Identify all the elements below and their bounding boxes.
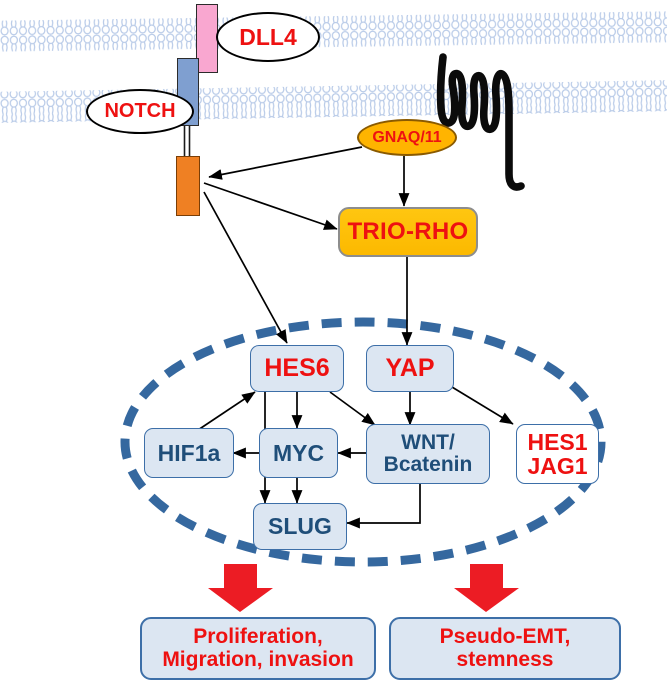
upper-membrane (0, 11, 667, 51)
left-red-arrow (208, 564, 273, 612)
arrow-wnt-to-slug (347, 483, 420, 523)
wnt-label-line2: Bcatenin (384, 454, 473, 476)
left-outcome-node[interactable]: Proliferation, Migration, invasion (140, 617, 376, 680)
jag1-label: JAG1 (527, 454, 587, 478)
arrow-nicd-to-hes6 (204, 192, 287, 343)
notch-label: NOTCH (104, 100, 175, 123)
myc-label: MYC (273, 441, 324, 465)
red-outcome-arrows (208, 564, 519, 612)
arrow-hif1a-to-hes6 (195, 392, 255, 432)
right-outcome-line1: Pseudo-EMT, (440, 626, 571, 648)
trio-rho-node[interactable]: TRIO-RHO (338, 207, 478, 257)
trio-rho-label: TRIO-RHO (347, 219, 468, 244)
left-outcome-line1: Proliferation, (193, 626, 323, 648)
hes1-label: HES1 (527, 430, 587, 454)
arrow-hes6-to-wnt (330, 392, 375, 425)
gnaq-callout[interactable]: GNAQ/11 (357, 119, 457, 156)
dll4-callout[interactable]: DLL4 (216, 12, 320, 62)
yap-label: YAP (385, 355, 434, 381)
arrow-nicd-to-trio (204, 183, 337, 229)
hes6-label: HES6 (264, 355, 329, 381)
nicd-rect (176, 156, 200, 216)
pathway-diagram: DLL4 NOTCH GNAQ/11 TRIO-RHO HES6 YAP HIF… (0, 0, 667, 687)
right-red-arrow (454, 564, 519, 612)
gpcr-seven-transmembrane-icon (441, 57, 521, 187)
dll4-label: DLL4 (239, 24, 297, 51)
slug-node[interactable]: SLUG (253, 503, 347, 550)
yap-node[interactable]: YAP (366, 345, 454, 392)
hif1a-label: HIF1a (158, 441, 221, 465)
hes6-node[interactable]: HES6 (250, 345, 344, 392)
hes1-jag1-node[interactable]: HES1 JAG1 (516, 424, 599, 484)
notch-cleavage-stalk (185, 126, 190, 157)
right-outcome-line2: stemness (457, 649, 554, 671)
wnt-bcatenin-node[interactable]: WNT/ Bcatenin (366, 424, 490, 484)
dll4-ligand-rect (196, 4, 218, 73)
slug-label: SLUG (268, 514, 332, 538)
left-outcome-line2: Migration, invasion (162, 649, 353, 671)
myc-node[interactable]: MYC (259, 428, 338, 478)
notch-callout[interactable]: NOTCH (86, 89, 194, 134)
right-outcome-node[interactable]: Pseudo-EMT, stemness (389, 617, 621, 680)
arrow-yap-to-hes1jag1 (447, 384, 513, 424)
gnaq-label: GNAQ/11 (372, 129, 441, 147)
hif1a-node[interactable]: HIF1a (144, 428, 234, 478)
wnt-label-line1: WNT/ (401, 432, 455, 454)
arrow-gnaq-to-nicd (209, 147, 362, 177)
